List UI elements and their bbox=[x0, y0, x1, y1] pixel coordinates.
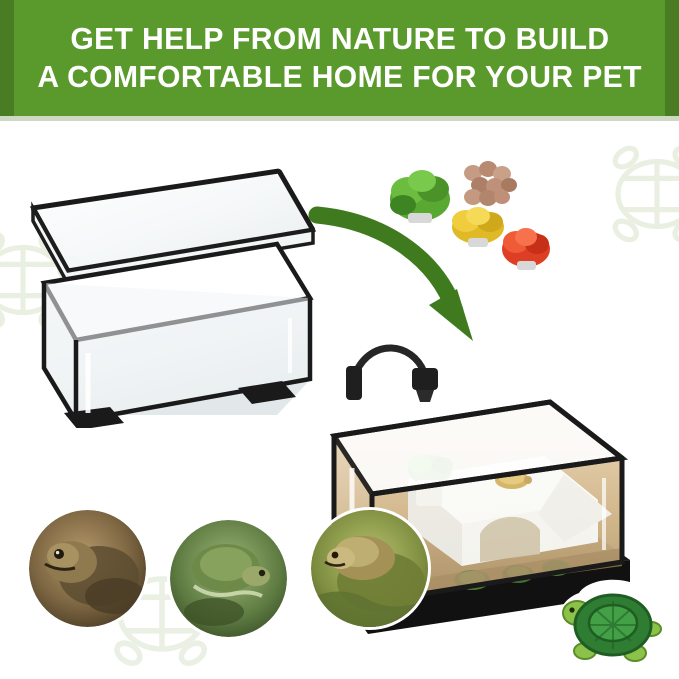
banner-headline-line-2: A COMFORTABLE HOME FOR YOUR PET bbox=[37, 58, 642, 96]
watermark-turtle-top-right bbox=[592, 135, 679, 253]
banner-right-accent bbox=[665, 0, 679, 116]
photo-turtle-closeup bbox=[29, 510, 146, 627]
heat-lamp bbox=[346, 348, 438, 402]
product-infographic: GET HELP FROM NATURE TO BUILD A COMFORTA… bbox=[0, 0, 679, 679]
banner-headline-line-1: GET HELP FROM NATURE TO BUILD bbox=[70, 20, 609, 58]
photo-turtle-swimming bbox=[170, 520, 287, 637]
scene-area bbox=[0, 121, 679, 679]
empty-glass-tank bbox=[28, 168, 318, 428]
decor-red-coral-plant bbox=[502, 228, 550, 270]
banner-left-accent bbox=[0, 0, 14, 116]
photo-tortoise-on-grass bbox=[311, 510, 428, 627]
header-banner: GET HELP FROM NATURE TO BUILD A COMFORTA… bbox=[0, 0, 679, 116]
cartoon-turtle-badge-icon bbox=[551, 569, 671, 673]
banner-text-area: GET HELP FROM NATURE TO BUILD A COMFORTA… bbox=[14, 0, 665, 116]
